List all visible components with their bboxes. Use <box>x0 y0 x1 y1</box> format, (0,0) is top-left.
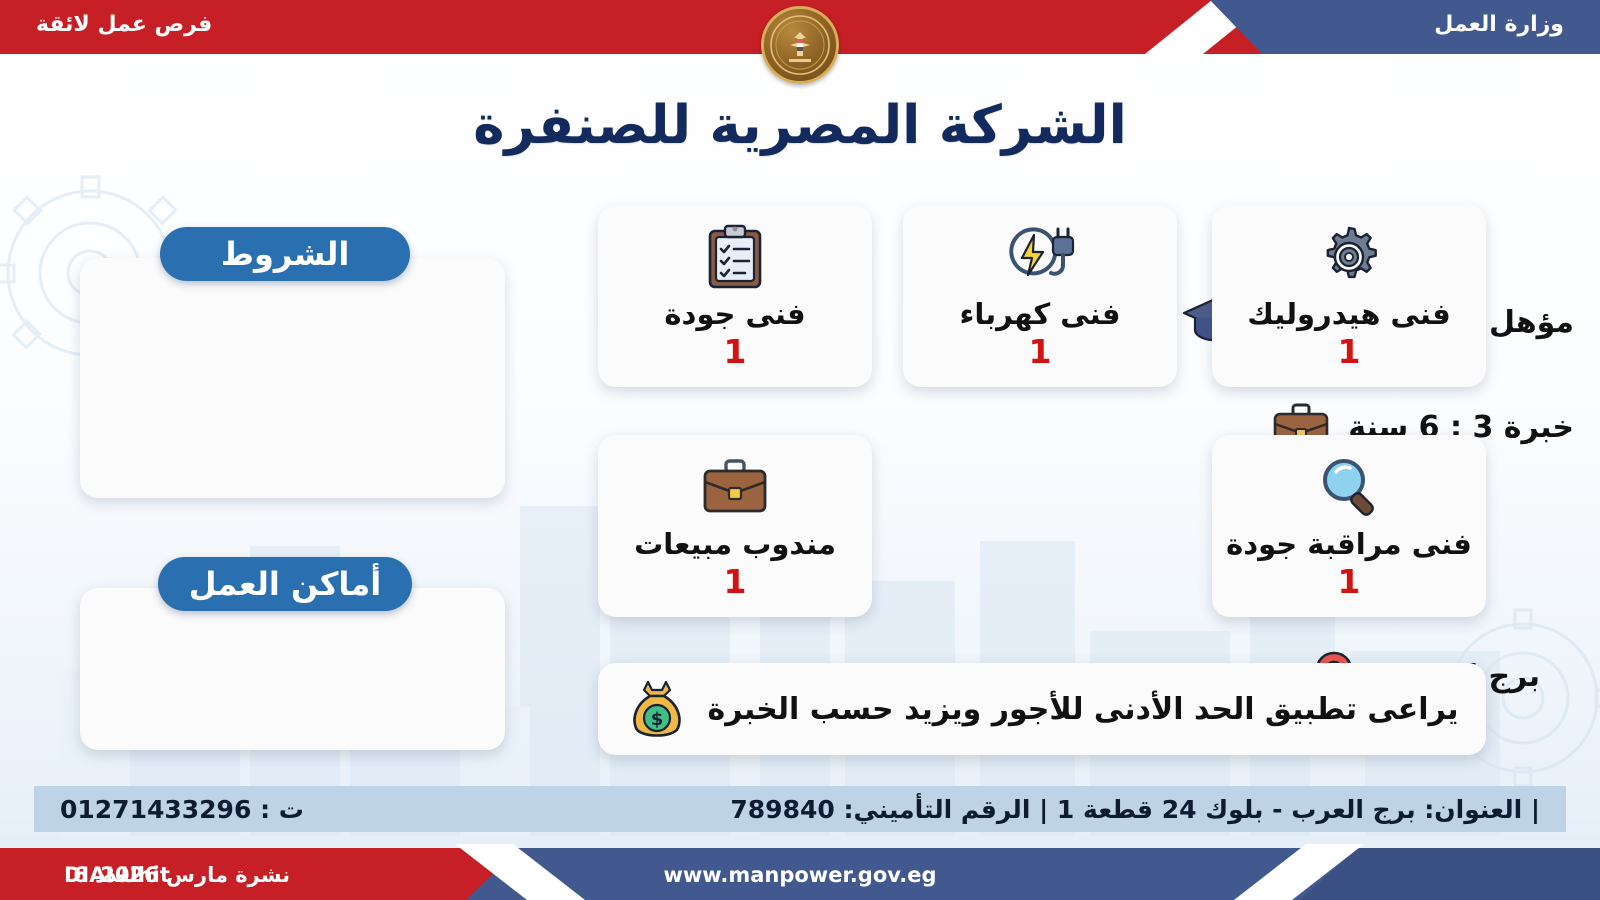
eagle-emblem-icon <box>769 14 831 76</box>
conditions-heading: الشروط <box>160 227 410 281</box>
job-icon <box>705 221 765 293</box>
salary-note-text: يراعى تطبيق الحد الأدنى للأجور ويزيد حسب… <box>708 692 1459 727</box>
job-card: مندوب مبيعات 1 <box>598 435 872 617</box>
svg-text:$: $ <box>650 709 663 730</box>
job-icon <box>699 451 771 523</box>
conditions-card <box>80 258 505 498</box>
job-name: فنى هيدروليك <box>1247 299 1450 331</box>
job-count: 1 <box>724 332 747 371</box>
page-footer: نشرة مارس 2026 العدد 6 www.manpower.gov.… <box>0 844 1600 900</box>
ministry-label: وزارة العمل <box>1434 12 1564 37</box>
job-icon <box>1316 221 1382 293</box>
job-count: 1 <box>1338 562 1361 601</box>
job-card: فنى مراقبة جودة 1 <box>1212 435 1486 617</box>
footer-website[interactable]: www.manpower.gov.eg <box>664 863 937 887</box>
job-name: فنى كهرباء <box>960 299 1121 331</box>
job-name: فنى مراقبة جودة <box>1226 529 1472 561</box>
salary-note-card: يراعى تطبيق الحد الأدنى للأجور ويزيد حسب… <box>598 663 1486 755</box>
job-card: فنى كهرباء 1 <box>903 205 1177 387</box>
job-name: فنى جودة <box>664 299 805 331</box>
job-icon <box>1316 451 1382 523</box>
contact-phone: ت : 01271433296 <box>60 795 304 824</box>
electric-plug-icon <box>1001 225 1079 289</box>
job-card: فنى جودة 1 <box>598 205 872 387</box>
briefcase-icon <box>699 456 771 518</box>
work-places-heading: أماكن العمل <box>158 557 412 611</box>
ministry-emblem <box>761 6 839 84</box>
poster-root: وزارة العمل فرص عمل لائقة الشركة المصرية… <box>0 0 1600 900</box>
job-count: 1 <box>724 562 747 601</box>
contact-bar: | العنوان: برج العرب - بلوك 24 قطعة 1 | … <box>34 786 1566 832</box>
clipboard-checklist-icon <box>705 223 765 291</box>
gear-icon <box>1316 224 1382 290</box>
job-icon <box>1001 221 1079 293</box>
magnifying-glass-icon <box>1316 454 1382 520</box>
job-count: 1 <box>1029 332 1052 371</box>
job-count: 1 <box>1338 332 1361 371</box>
work-places-card <box>80 588 505 750</box>
header-tagline: فرص عمل لائقة <box>36 12 212 37</box>
footer-unit-label: DIAI Unit <box>64 863 170 887</box>
money-bag-icon: $ <box>626 676 688 742</box>
job-card: فنى هيدروليك 1 <box>1212 205 1486 387</box>
page-title: الشركة المصرية للصنفرة <box>0 95 1600 156</box>
job-name: مندوب مبيعات <box>634 529 836 561</box>
contact-address: | العنوان: برج العرب - بلوك 24 قطعة 1 | … <box>730 795 1540 824</box>
